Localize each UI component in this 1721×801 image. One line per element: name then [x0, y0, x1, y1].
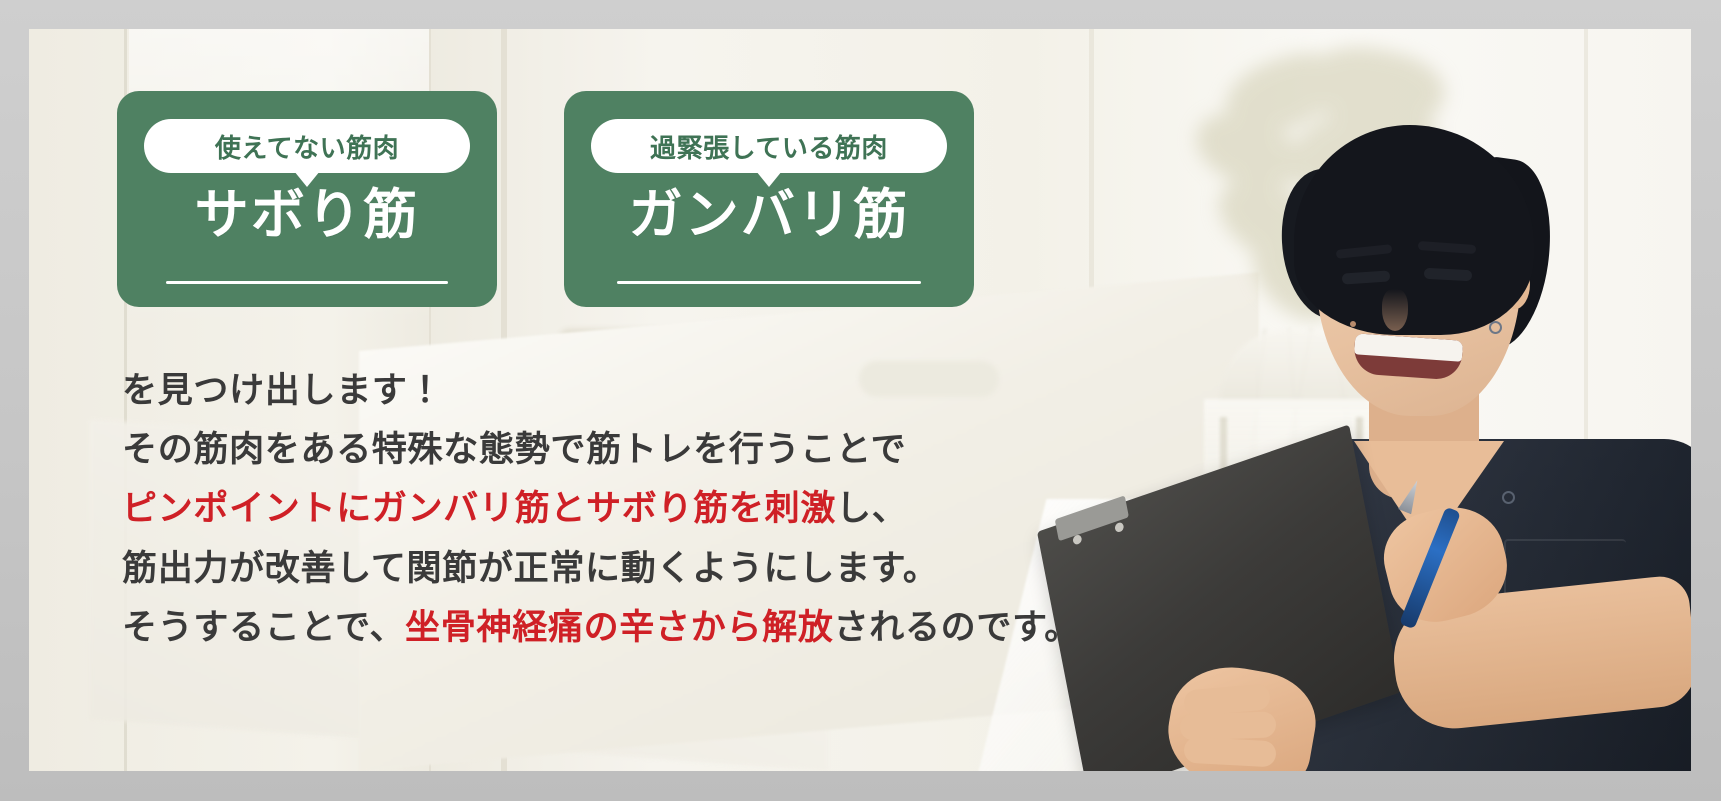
card-underline [617, 281, 921, 284]
card-badge: 過緊張している筋肉 [591, 119, 947, 173]
copy-line-4: 筋出力が改善して関節が正常に動くようにします。 [122, 542, 1122, 595]
mole [1350, 321, 1356, 327]
finger [1180, 711, 1277, 740]
content-panel: 使えてない筋肉 サボり筋 過緊張している筋肉 ガンバリ筋 を見つけ出します！ そ… [29, 29, 1691, 771]
card-title: サボり筋 [117, 183, 497, 245]
nose [1382, 289, 1408, 331]
card-ganbarikin[interactable]: 過緊張している筋肉 ガンバリ筋 [564, 91, 974, 307]
finger [1183, 737, 1276, 768]
copy-line-2: その筋肉をある特殊な態勢で筋トレを行うことで [122, 423, 1122, 476]
card-underline [166, 281, 448, 284]
copy-line-5: そうすることで、坐骨神経痛の辛さから解放されるのです。 [122, 601, 1122, 654]
card-badge: 使えてない筋肉 [144, 119, 470, 173]
scrub-snap [1502, 491, 1515, 504]
copy-line-5-tail: されるのです。 [834, 607, 1080, 648]
clinician-photo [1204, 109, 1691, 771]
copy-line-5-head: そうすることで、 [122, 607, 405, 648]
body-copy: を見つけ出します！ その筋肉をある特殊な態勢で筋トレを行うことで ピンポイントに… [122, 364, 1122, 660]
card-saborikin[interactable]: 使えてない筋肉 サボり筋 [117, 91, 497, 307]
scrub-snap [1489, 321, 1502, 334]
copy-line-3-tail: し、 [836, 488, 907, 529]
copy-line-3-highlight: ピンポイントにガンバリ筋とサボり筋を刺激 [122, 488, 836, 529]
card-title: ガンバリ筋 [564, 183, 974, 245]
copy-line-1: を見つけ出します！ [122, 364, 1122, 417]
screenshot-stage: 使えてない筋肉 サボり筋 過緊張している筋肉 ガンバリ筋 を見つけ出します！ そ… [0, 0, 1721, 801]
copy-line-3: ピンポイントにガンバリ筋とサボり筋を刺激し、 [122, 482, 1122, 535]
copy-line-5-highlight: 坐骨神経痛の辛さから解放 [405, 607, 833, 648]
